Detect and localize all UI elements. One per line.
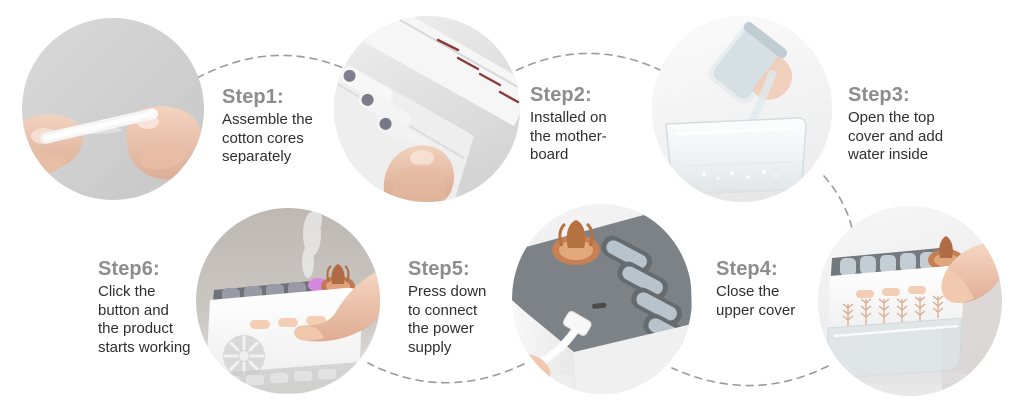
step6-title: Step6: <box>98 258 191 280</box>
step3-title: Step3: <box>848 84 943 106</box>
photo-closing-upper-cover <box>818 206 1002 396</box>
photo-hands-holding-cotton-core <box>22 18 204 200</box>
connector-step4-step5 <box>672 366 828 386</box>
connector-step1-step2 <box>197 55 352 78</box>
step-block-step5: Step5: Press down to connect the power s… <box>408 258 486 357</box>
step-block-step4: Step4: Close the upper cover <box>716 258 795 320</box>
steps-infographic: Step1: Assemble the cotton cores separat… <box>0 0 1024 420</box>
step4-title: Step4: <box>716 258 795 280</box>
step5-title: Step5: <box>408 258 486 280</box>
step-block-step1: Step1: Assemble the cotton cores separat… <box>222 86 313 167</box>
photo-product-running <box>196 208 380 394</box>
connector-step3-step4 <box>824 176 852 228</box>
photo-connecting-usb-power <box>512 204 692 394</box>
step4-description: Close the upper cover <box>716 283 795 320</box>
connector-step2-step3 <box>505 53 660 76</box>
connector-step5-step6 <box>368 363 524 383</box>
step-block-step2: Step2: Installed on the mother- board <box>530 84 607 165</box>
step6-description: Click the button and the product starts … <box>98 283 191 357</box>
step1-description: Assemble the cotton cores separately <box>222 111 313 167</box>
step-block-step6: Step6: Click the button and the product … <box>98 258 191 357</box>
step3-description: Open the top cover and add water inside <box>848 109 943 165</box>
photo-cotton-cores-on-motherboard <box>334 16 520 202</box>
step-block-step3: Step3: Open the top cover and add water … <box>848 84 943 165</box>
step2-description: Installed on the mother- board <box>530 109 607 165</box>
photo-pouring-water-into-tank <box>652 16 832 202</box>
step2-title: Step2: <box>530 84 607 106</box>
step1-title: Step1: <box>222 86 313 108</box>
step5-description: Press down to connect the power supply <box>408 283 486 357</box>
